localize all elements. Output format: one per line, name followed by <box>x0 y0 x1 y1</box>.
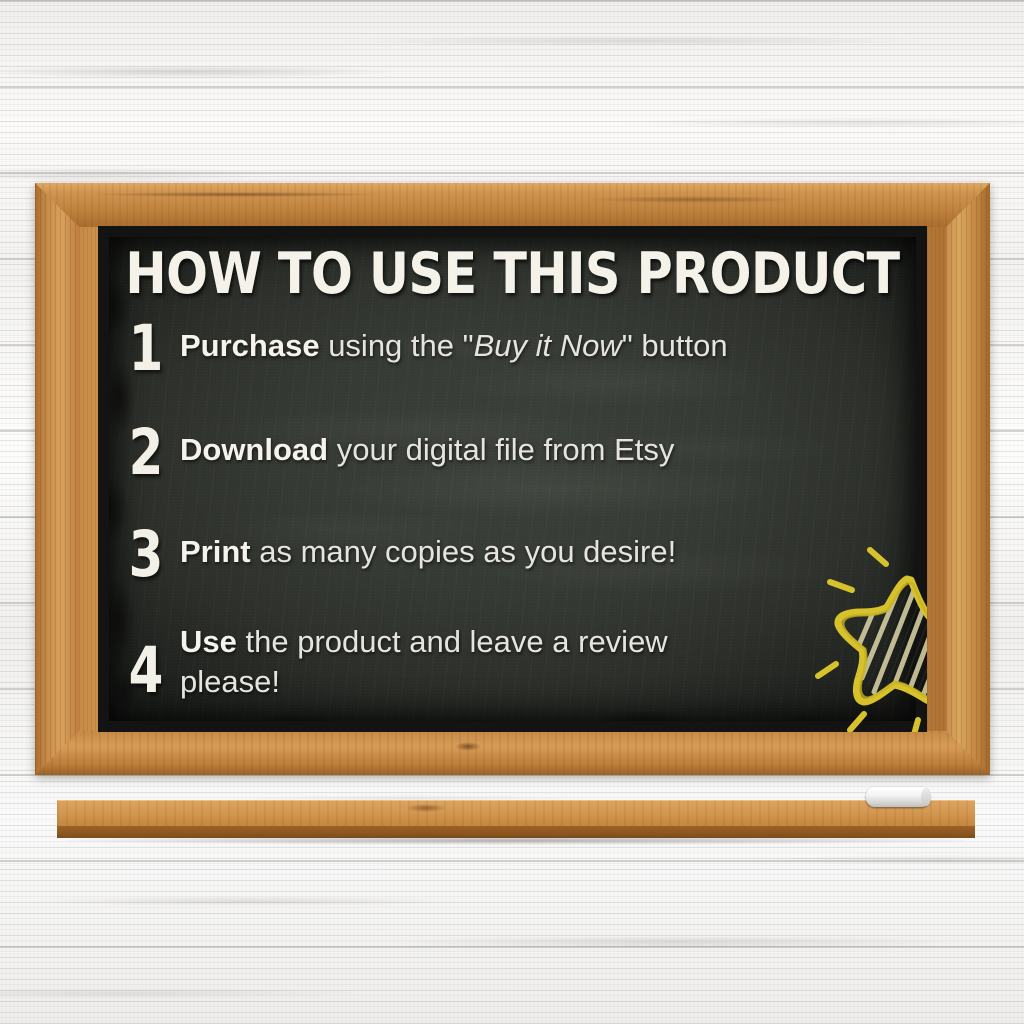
step-text: Purchase using the "Buy it Now" button <box>180 322 728 366</box>
step-text: Download your digital file from Etsy <box>180 426 674 470</box>
wood-grain-mark <box>589 196 799 203</box>
list-item: 1 Purchase using the "Buy it Now" button <box>112 322 912 376</box>
wood-grain-mark <box>92 192 379 197</box>
page-title: HOW TO USE THIS PRODUCT <box>115 243 911 305</box>
step-keyword: Use <box>180 624 237 659</box>
step-body: the product and leave a review please! <box>180 624 668 699</box>
frame-right-rail <box>946 183 990 775</box>
step-keyword: Download <box>180 432 328 467</box>
steps-list: 1 Purchase using the "Buy it Now" button… <box>112 322 912 722</box>
step-emphasis: Buy it Now <box>474 328 622 363</box>
step-keyword: Purchase <box>180 328 320 363</box>
chalk-stick-icon <box>866 787 930 807</box>
list-item: 2 Download your digital file from Etsy <box>112 426 912 480</box>
board-content: HOW TO USE THIS PRODUCT 1 Purchase using… <box>98 226 927 732</box>
step-body-tail: " button <box>622 328 728 363</box>
list-item: 3 Print as many copies as you desire! <box>112 528 912 582</box>
step-number: 2 <box>116 426 176 480</box>
ledge-top-surface <box>57 800 975 826</box>
step-text: Print as many copies as you desire! <box>180 528 676 572</box>
chalkboard-surface: HOW TO USE THIS PRODUCT 1 Purchase using… <box>98 226 927 732</box>
frame-left-rail <box>35 183 79 775</box>
step-body: using the " <box>320 328 474 363</box>
framed-chalkboard: HOW TO USE THIS PRODUCT 1 Purchase using… <box>35 183 990 775</box>
chalk-ledge <box>57 800 975 838</box>
wood-knot <box>455 742 481 751</box>
step-number: 4 <box>116 644 176 702</box>
step-keyword: Print <box>180 534 251 569</box>
frame-top-rail <box>35 183 990 227</box>
step-number: 1 <box>116 322 176 376</box>
list-item: 4 Use the product and leave a review ple… <box>112 618 912 702</box>
step-text: Use the product and leave a review pleas… <box>180 618 740 702</box>
step-number: 3 <box>116 528 176 582</box>
chalkboard-graphic: HOW TO USE THIS PRODUCT 1 Purchase using… <box>0 0 1024 1024</box>
star-doodle-icon <box>814 546 927 732</box>
wood-knot <box>406 804 446 812</box>
frame-bottom-rail <box>35 731 990 775</box>
ledge-drop-shadow <box>67 836 965 845</box>
step-body: as many copies as you desire! <box>251 534 677 569</box>
chalk-stick-end <box>921 788 931 806</box>
step-body: your digital file from Etsy <box>328 432 674 467</box>
